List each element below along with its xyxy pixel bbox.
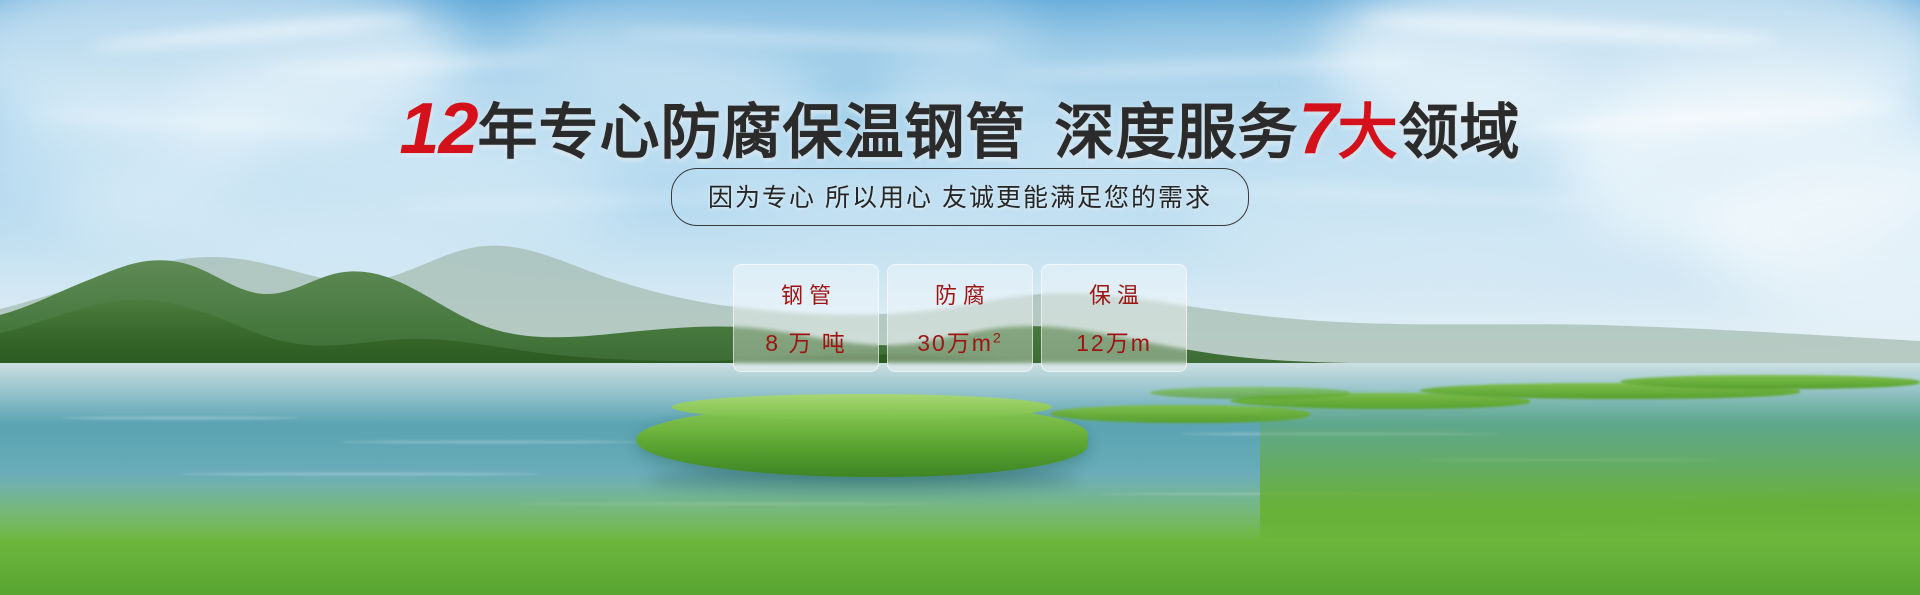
water-ripple <box>60 417 300 419</box>
stat-card-insulation[interactable]: 保温 12万m <box>1041 264 1187 372</box>
page-title: 12年专心防腐保温钢管深度服务7大领域 <box>0 84 1920 171</box>
stat-card-label: 防腐 <box>929 278 991 310</box>
water-ripple <box>340 441 640 443</box>
headline-fields-tail: 领域 <box>1399 99 1521 166</box>
stat-card-value: 30万m2 <box>917 324 1003 358</box>
stat-card-value: 8 万 吨 <box>765 324 847 358</box>
headline-fields-measure: 大 <box>1338 99 1399 166</box>
stat-card-label: 钢管 <box>775 278 837 310</box>
stat-card-steel-pipe[interactable]: 钢管 8 万 吨 <box>733 264 879 372</box>
hero-banner: 12年专心防腐保温钢管深度服务7大领域 因为专心 所以用心 友诚更能满足您的需求… <box>0 0 1920 595</box>
headline-main-text: 年专心防腐保温钢管 <box>478 99 1027 166</box>
stat-card-anticorrosion[interactable]: 防腐 30万m2 <box>887 264 1033 372</box>
subtitle-container: 因为专心 所以用心 友诚更能满足您的需求 <box>0 168 1920 226</box>
stat-card-value-main: 12万m <box>1076 330 1152 356</box>
headline-service-text: 深度服务 <box>1055 99 1299 166</box>
headline-years-number: 12 <box>399 89 477 169</box>
stat-card-value-exponent: 2 <box>993 329 1003 345</box>
stat-card-value: 12万m <box>1076 324 1152 358</box>
grass-foreground-strip <box>0 475 1920 595</box>
stat-card-value-main: 8 万 吨 <box>765 330 847 356</box>
headline-fields-number: 7 <box>1299 89 1338 169</box>
stat-cards: 钢管 8 万 吨 防腐 30万m2 保温 12万m <box>0 264 1920 372</box>
stat-card-label: 保温 <box>1083 278 1145 310</box>
subtitle-pill: 因为专心 所以用心 友诚更能满足您的需求 <box>671 168 1249 226</box>
stat-card-value-main: 30万m <box>917 330 993 356</box>
